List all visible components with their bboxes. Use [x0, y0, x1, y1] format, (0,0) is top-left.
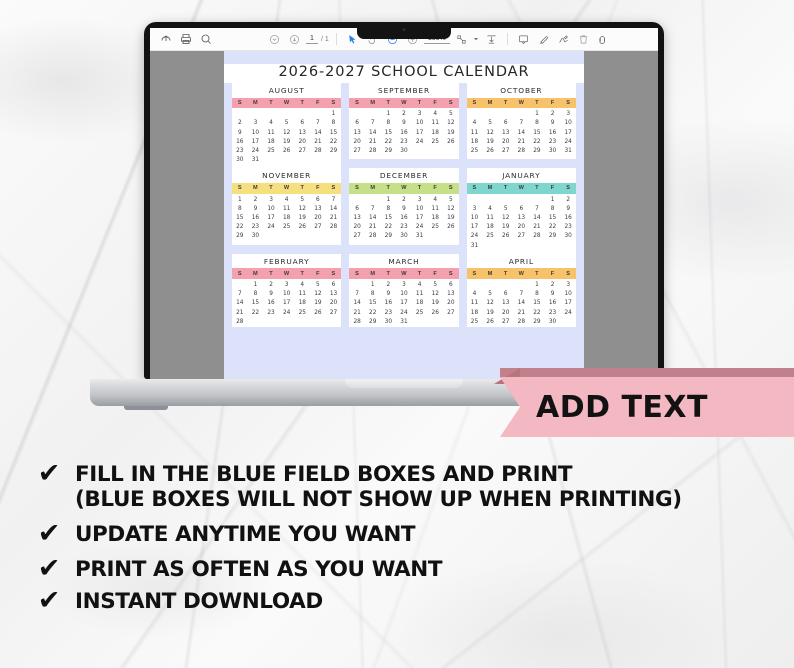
day-cell[interactable]: 13	[294, 129, 310, 138]
day-cell[interactable]: 30	[560, 232, 576, 241]
day-cell[interactable]: 13	[443, 290, 459, 299]
day-cell[interactable]: 22	[365, 309, 381, 318]
day-cell[interactable]: 9	[381, 290, 397, 299]
day-cell[interactable]: 3	[248, 119, 264, 128]
day-cell[interactable]: 24	[412, 138, 428, 147]
delete-icon[interactable]	[575, 31, 592, 47]
day-cell[interactable]: 23	[396, 138, 412, 147]
day-cell[interactable]: 6	[498, 119, 514, 128]
day-cell[interactable]: 5	[310, 281, 326, 290]
day-cell[interactable]: 13	[498, 299, 514, 308]
day-cell[interactable]: 2	[396, 110, 412, 119]
day-cell[interactable]: 3	[467, 205, 483, 214]
page-navigator[interactable]: 1 / 1	[306, 34, 329, 44]
day-cell[interactable]: 23	[396, 223, 412, 232]
day-cell[interactable]: 9	[396, 205, 412, 214]
day-cell[interactable]: 18	[427, 214, 443, 223]
dow-label: F	[545, 185, 561, 191]
day-cell[interactable]: 22	[529, 309, 545, 318]
day-cell[interactable]: 27	[310, 223, 326, 232]
day-cell[interactable]: 8	[365, 290, 381, 299]
day-cell[interactable]: 15	[365, 299, 381, 308]
day-cell[interactable]: 23	[560, 223, 576, 232]
day-cell[interactable]: 16	[396, 214, 412, 223]
day-cell[interactable]: 14	[326, 205, 342, 214]
fit-page-icon[interactable]	[453, 31, 470, 47]
day-cell[interactable]: 26	[482, 147, 498, 156]
month-block-december: DECEMBERSMTWTFS..12345678910111213141516…	[349, 168, 458, 253]
day-cell[interactable]: 21	[326, 214, 342, 223]
day-cell[interactable]: 31	[248, 156, 264, 165]
day-cell[interactable]: 24	[467, 232, 483, 241]
dow-label: F	[427, 185, 443, 191]
day-cell[interactable]: 21	[514, 309, 530, 318]
day-cell[interactable]: 7	[514, 290, 530, 299]
day-cell[interactable]: 29	[545, 232, 561, 241]
day-cell[interactable]: 6	[514, 205, 530, 214]
pdf-workspace[interactable]: 2026-2027 SCHOOL CALENDAR AUGUSTSMTWTFS.…	[150, 51, 658, 379]
day-cell[interactable]: 5	[294, 196, 310, 205]
day-cell[interactable]: 19	[482, 138, 498, 147]
day-cell[interactable]: 26	[443, 223, 459, 232]
day-cell[interactable]: 7	[365, 205, 381, 214]
day-cell[interactable]: 23	[545, 138, 561, 147]
day-cell[interactable]: 6	[294, 119, 310, 128]
day-cell[interactable]: 12	[310, 290, 326, 299]
day-cell[interactable]: 26	[427, 309, 443, 318]
day-cell[interactable]: 22	[381, 223, 397, 232]
day-cell[interactable]: 12	[443, 119, 459, 128]
day-cell[interactable]: 22	[232, 223, 248, 232]
day-cell[interactable]: 26	[482, 318, 498, 327]
day-cell[interactable]: 2	[263, 281, 279, 290]
day-cell[interactable]: 15	[381, 129, 397, 138]
day-cell[interactable]: 22	[529, 138, 545, 147]
day-cell[interactable]: 21	[365, 223, 381, 232]
day-cell[interactable]: 1	[248, 281, 264, 290]
day-cell[interactable]: 18	[467, 138, 483, 147]
day-cell[interactable]: 13	[349, 129, 365, 138]
day-cell[interactable]: 27	[294, 147, 310, 156]
day-cell[interactable]: 17	[263, 214, 279, 223]
day-cell[interactable]: 30	[545, 318, 561, 327]
day-cell[interactable]: 31	[560, 147, 576, 156]
day-cell[interactable]: 10	[248, 129, 264, 138]
day-cell[interactable]: 10	[279, 290, 295, 299]
day-cell[interactable]: 14	[310, 129, 326, 138]
day-cell[interactable]: 4	[467, 290, 483, 299]
day-cell[interactable]: 19	[443, 129, 459, 138]
day-cell[interactable]: 26	[279, 147, 295, 156]
day-cell[interactable]: 21	[349, 309, 365, 318]
day-cell[interactable]: 23	[545, 309, 561, 318]
day-cell[interactable]: 25	[412, 309, 428, 318]
day-cell[interactable]: 25	[482, 232, 498, 241]
day-cell[interactable]: 22	[545, 223, 561, 232]
day-cell[interactable]: 1	[365, 281, 381, 290]
day-cell[interactable]: 29	[232, 232, 248, 241]
day-cell[interactable]: 3	[412, 196, 428, 205]
day-cell[interactable]: 18	[294, 299, 310, 308]
day-cell[interactable]: 13	[349, 214, 365, 223]
day-cell[interactable]: 20	[326, 299, 342, 308]
day-cell[interactable]: 30	[545, 147, 561, 156]
signature-icon[interactable]	[555, 31, 572, 47]
day-cell[interactable]: 18	[412, 299, 428, 308]
day-cell[interactable]: 5	[427, 281, 443, 290]
day-cell[interactable]: 1	[529, 110, 545, 119]
day-cell[interactable]: 16	[232, 138, 248, 147]
day-cell[interactable]: 8	[381, 205, 397, 214]
day-cell[interactable]: 5	[482, 290, 498, 299]
day-cell[interactable]: 13	[326, 290, 342, 299]
day-cell[interactable]: 1	[381, 196, 397, 205]
day-cell[interactable]: 28	[349, 318, 365, 327]
day-cell[interactable]: 7	[514, 119, 530, 128]
day-cell[interactable]: 3	[279, 281, 295, 290]
day-cell[interactable]: 6	[443, 281, 459, 290]
day-cell[interactable]: 2	[232, 119, 248, 128]
day-cell[interactable]: 2	[545, 110, 561, 119]
day-cell[interactable]: 18	[427, 129, 443, 138]
day-cell[interactable]: 5	[443, 196, 459, 205]
day-cell[interactable]: 23	[381, 309, 397, 318]
day-cell[interactable]: 25	[279, 223, 295, 232]
day-cell[interactable]: 7	[326, 196, 342, 205]
day-cell[interactable]: 21	[232, 309, 248, 318]
feature-item: ✔FILL IN THE BLUE FIELD BOXES AND PRINT(…	[36, 461, 766, 512]
day-cell[interactable]: 30	[248, 232, 264, 241]
day-cell[interactable]: 16	[396, 129, 412, 138]
day-cell[interactable]: 11	[263, 129, 279, 138]
day-cell[interactable]: 20	[498, 309, 514, 318]
day-cell[interactable]: 12	[279, 129, 295, 138]
day-cell[interactable]: 24	[412, 223, 428, 232]
day-cell[interactable]: 17	[412, 129, 428, 138]
day-cell[interactable]: 25	[467, 318, 483, 327]
day-cell[interactable]: 28	[232, 318, 248, 327]
day-cell[interactable]: 10	[467, 214, 483, 223]
day-cell[interactable]: 19	[443, 214, 459, 223]
day-cell[interactable]: 11	[279, 205, 295, 214]
day-cell[interactable]: 3	[263, 196, 279, 205]
day-cell[interactable]: 16	[381, 299, 397, 308]
day-cell[interactable]: 23	[248, 223, 264, 232]
calendar-document-page[interactable]: 2026-2027 SCHOOL CALENDAR AUGUSTSMTWTFS.…	[224, 51, 584, 379]
day-cell[interactable]: 21	[310, 138, 326, 147]
day-cell[interactable]: 17	[560, 129, 576, 138]
day-cell[interactable]: 3	[412, 110, 428, 119]
day-cell[interactable]: 12	[294, 205, 310, 214]
day-cell[interactable]: 21	[365, 138, 381, 147]
day-cell[interactable]: 27	[443, 309, 459, 318]
day-cell[interactable]: 24	[263, 223, 279, 232]
day-cell[interactable]: 7	[310, 119, 326, 128]
day-cell[interactable]: 8	[326, 119, 342, 128]
day-cell[interactable]: 9	[248, 205, 264, 214]
day-cell[interactable]: 28	[365, 147, 381, 156]
day-cell[interactable]: 14	[514, 299, 530, 308]
day-cell[interactable]: 6	[310, 196, 326, 205]
day-cell[interactable]: 25	[467, 147, 483, 156]
day-cell[interactable]: 15	[381, 214, 397, 223]
dow-label: T	[529, 185, 545, 191]
day-cell[interactable]: 15	[529, 299, 545, 308]
day-cell[interactable]: 28	[529, 232, 545, 241]
day-cell[interactable]: 20	[349, 138, 365, 147]
day-cell[interactable]: 26	[310, 309, 326, 318]
next-page-icon[interactable]	[286, 31, 303, 47]
day-cell[interactable]: 20	[514, 223, 530, 232]
day-cell[interactable]: 29	[365, 318, 381, 327]
day-cell[interactable]: 19	[310, 299, 326, 308]
day-cell[interactable]: 4	[294, 281, 310, 290]
day-cell[interactable]: 30	[396, 232, 412, 241]
day-cell[interactable]: 10	[560, 119, 576, 128]
day-cell[interactable]: 26	[294, 223, 310, 232]
day-cell[interactable]: 22	[248, 309, 264, 318]
comment-icon[interactable]	[515, 31, 532, 47]
day-cell[interactable]: 20	[443, 299, 459, 308]
day-cell[interactable]: 11	[467, 299, 483, 308]
day-cell[interactable]: 16	[545, 299, 561, 308]
day-cell[interactable]: 5	[482, 119, 498, 128]
day-cell[interactable]: 8	[381, 119, 397, 128]
day-cell[interactable]: 29	[381, 232, 397, 241]
day-cell[interactable]: 4	[467, 119, 483, 128]
scroll-mode-icon[interactable]	[483, 31, 500, 47]
day-cell[interactable]: 20	[498, 138, 514, 147]
day-cell[interactable]: 29	[529, 318, 545, 327]
day-cell[interactable]: 1	[381, 110, 397, 119]
day-cell[interactable]: 17	[248, 138, 264, 147]
day-cell[interactable]: 11	[427, 205, 443, 214]
day-cell[interactable]: 12	[482, 129, 498, 138]
day-cell[interactable]: 13	[514, 214, 530, 223]
day-cell[interactable]: 10	[263, 205, 279, 214]
day-cell[interactable]: 14	[365, 129, 381, 138]
day-cell[interactable]: 15	[529, 129, 545, 138]
dow-label: T	[412, 185, 428, 191]
day-cell[interactable]: 9	[232, 129, 248, 138]
day-cell[interactable]: 17	[467, 223, 483, 232]
chevron-down-icon[interactable]	[473, 31, 480, 47]
day-cell[interactable]: 7	[232, 290, 248, 299]
day-cell[interactable]: 15	[248, 299, 264, 308]
day-cell[interactable]: 3	[396, 281, 412, 290]
month-body: SMTWTFS.12345678910111213141516171819202…	[232, 268, 341, 327]
day-cell[interactable]: 27	[498, 147, 514, 156]
day-cell[interactable]: 18	[482, 223, 498, 232]
day-cell[interactable]: 16	[263, 299, 279, 308]
day-cell[interactable]: 29	[529, 147, 545, 156]
day-cell[interactable]: 9	[545, 290, 561, 299]
day-cell[interactable]: 15	[326, 129, 342, 138]
day-cell[interactable]: 19	[482, 309, 498, 318]
day-cell[interactable]: 31	[412, 232, 428, 241]
highlight-icon[interactable]	[535, 31, 552, 47]
day-cell[interactable]: 4	[427, 196, 443, 205]
day-cell[interactable]: 11	[294, 290, 310, 299]
day-cell[interactable]: 20	[310, 214, 326, 223]
day-cell[interactable]: 19	[427, 299, 443, 308]
day-cell[interactable]: 8	[529, 290, 545, 299]
day-cell[interactable]: 19	[279, 138, 295, 147]
day-cell[interactable]: 31	[396, 318, 412, 327]
day-cell[interactable]: 14	[529, 214, 545, 223]
blue-field-box[interactable]	[224, 51, 584, 64]
day-cell[interactable]: 25	[263, 147, 279, 156]
day-cell[interactable]: 24	[396, 309, 412, 318]
day-cell[interactable]: 4	[279, 196, 295, 205]
day-cell[interactable]: 19	[294, 214, 310, 223]
day-cell[interactable]: 24	[248, 147, 264, 156]
day-cell[interactable]: 18	[467, 309, 483, 318]
day-cell[interactable]: 20	[349, 223, 365, 232]
day-cell[interactable]: 17	[560, 299, 576, 308]
day-cell[interactable]: 4	[427, 110, 443, 119]
day-cell[interactable]: 24	[560, 309, 576, 318]
day-cell[interactable]: 27	[498, 318, 514, 327]
upload-icon[interactable]	[157, 31, 174, 47]
day-cell[interactable]: 27	[326, 309, 342, 318]
day-cell[interactable]: 26	[443, 138, 459, 147]
day-cell[interactable]: 11	[482, 214, 498, 223]
day-cell[interactable]: 8	[248, 290, 264, 299]
day-cell[interactable]: 31	[467, 242, 483, 251]
day-cell[interactable]: 21	[529, 223, 545, 232]
day-cell[interactable]: 30	[381, 318, 397, 327]
day-cell[interactable]: 5	[443, 110, 459, 119]
day-cell[interactable]: 28	[365, 232, 381, 241]
day-cell[interactable]: 2	[560, 196, 576, 205]
day-cell[interactable]: 29	[326, 147, 342, 156]
day-cell[interactable]: 23	[232, 147, 248, 156]
day-cell[interactable]: 25	[427, 138, 443, 147]
day-cell[interactable]: 12	[482, 299, 498, 308]
day-cell[interactable]: 14	[365, 214, 381, 223]
day-cell[interactable]: 22	[326, 138, 342, 147]
day-cell[interactable]: 15	[545, 214, 561, 223]
day-cell[interactable]: 17	[396, 299, 412, 308]
day-cell[interactable]: 27	[349, 232, 365, 241]
day-cell[interactable]: 3	[560, 281, 576, 290]
day-cell[interactable]: 2	[381, 281, 397, 290]
day-cell[interactable]: 27	[349, 147, 365, 156]
day-cell[interactable]: 16	[560, 214, 576, 223]
day-cell[interactable]: 6	[349, 205, 365, 214]
day-cell[interactable]: 5	[498, 205, 514, 214]
day-cell[interactable]: 9	[560, 205, 576, 214]
day-cell[interactable]: 1	[529, 281, 545, 290]
day-cell[interactable]: 1	[545, 196, 561, 205]
print-icon[interactable]	[177, 31, 194, 47]
day-cell[interactable]: 10	[396, 290, 412, 299]
day-cell[interactable]: 8	[545, 205, 561, 214]
day-cell[interactable]: 19	[498, 223, 514, 232]
day-cell[interactable]: 12	[427, 290, 443, 299]
day-cell[interactable]: 25	[427, 223, 443, 232]
day-cell[interactable]: 28	[326, 223, 342, 232]
day-cell[interactable]: 17	[279, 299, 295, 308]
day-cell[interactable]: 14	[349, 299, 365, 308]
day-cell[interactable]: 23	[263, 309, 279, 318]
day-cell[interactable]: 2	[396, 196, 412, 205]
search-icon[interactable]	[197, 31, 214, 47]
day-cell[interactable]: 14	[514, 129, 530, 138]
day-cell[interactable]: 10	[412, 205, 428, 214]
day-cell[interactable]: 2	[545, 281, 561, 290]
previous-page-icon[interactable]	[266, 31, 283, 47]
day-cell[interactable]: 12	[498, 214, 514, 223]
day-cell[interactable]: 30	[232, 156, 248, 165]
day-cell[interactable]: 9	[545, 119, 561, 128]
day-cell[interactable]: 2	[248, 196, 264, 205]
day-cell[interactable]: 11	[412, 290, 428, 299]
day-cell[interactable]: 1	[232, 196, 248, 205]
day-cell[interactable]: 25	[294, 309, 310, 318]
page-number-input[interactable]: 1	[306, 34, 318, 44]
day-cell[interactable]: 18	[279, 214, 295, 223]
day-cell[interactable]: 4	[263, 119, 279, 128]
day-cell[interactable]: 5	[279, 119, 295, 128]
day-cell[interactable]: 13	[498, 129, 514, 138]
day-cell[interactable]: 14	[232, 299, 248, 308]
day-cell[interactable]: 4	[482, 205, 498, 214]
day-cell[interactable]: 24	[279, 309, 295, 318]
day-cell[interactable]: 9	[263, 290, 279, 299]
day-cell[interactable]: 12	[443, 205, 459, 214]
day-cell[interactable]: 16	[545, 129, 561, 138]
day-cell[interactable]: 11	[467, 129, 483, 138]
day-cell[interactable]: 8	[529, 119, 545, 128]
day-cell[interactable]: 18	[263, 138, 279, 147]
dow-label: S	[326, 185, 342, 191]
day-cell[interactable]: 17	[412, 214, 428, 223]
day-cell[interactable]: 10	[412, 119, 428, 128]
day-cell[interactable]: 26	[498, 232, 514, 241]
day-cell[interactable]: 16	[248, 214, 264, 223]
day-cell[interactable]: 28	[514, 147, 530, 156]
day-cell[interactable]: 8	[232, 205, 248, 214]
day-cell[interactable]: 9	[396, 119, 412, 128]
day-cell[interactable]: 29	[381, 147, 397, 156]
day-cell[interactable]: 3	[560, 110, 576, 119]
day-cell[interactable]: 15	[232, 214, 248, 223]
day-cell[interactable]: 6	[498, 290, 514, 299]
day-cell[interactable]: 27	[514, 232, 530, 241]
day-cell[interactable]: 20	[294, 138, 310, 147]
day-cell[interactable]: 22	[381, 138, 397, 147]
day-cell[interactable]: 7	[529, 205, 545, 214]
day-cell[interactable]: 11	[427, 119, 443, 128]
day-cell[interactable]: 4	[412, 281, 428, 290]
day-cell[interactable]: 28	[514, 318, 530, 327]
day-cell[interactable]: 30	[396, 147, 412, 156]
day-cell[interactable]: 6	[349, 119, 365, 128]
day-cell[interactable]: 21	[514, 138, 530, 147]
dow-label: S	[560, 100, 576, 106]
undo-icon[interactable]	[595, 31, 612, 47]
day-cell[interactable]: 24	[560, 138, 576, 147]
day-cell[interactable]: 6	[326, 281, 342, 290]
day-cell[interactable]: 7	[349, 290, 365, 299]
day-cell[interactable]: 10	[560, 290, 576, 299]
day-cell[interactable]: 28	[310, 147, 326, 156]
day-cell[interactable]: 1	[326, 110, 342, 119]
day-cell[interactable]: 7	[365, 119, 381, 128]
day-cell[interactable]: 13	[310, 205, 326, 214]
